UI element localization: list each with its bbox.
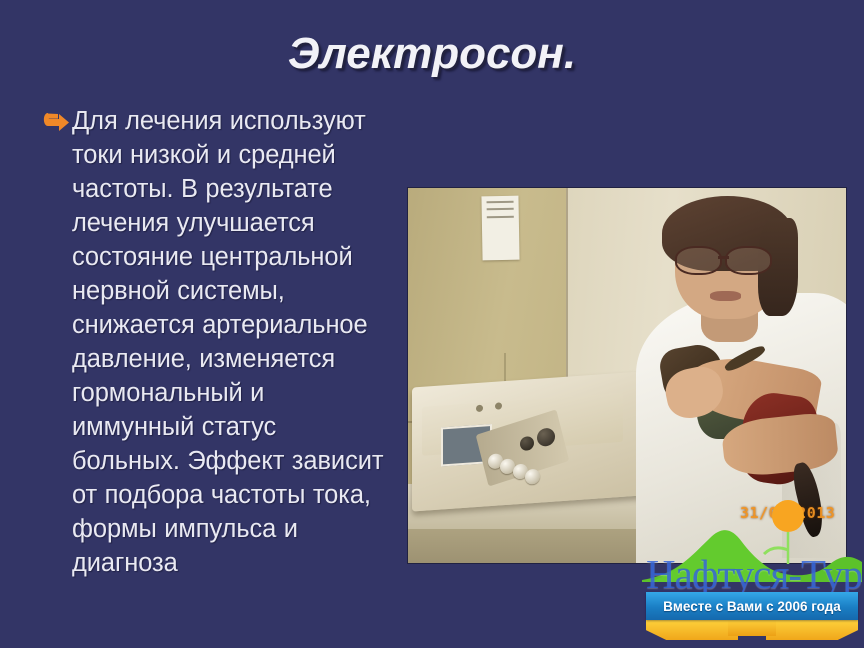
bullet-text-block: Для лечения используют токи низкой и сре… xyxy=(40,104,390,580)
eyeglasses xyxy=(675,246,771,270)
page-title: Электросон. xyxy=(0,30,864,78)
ribbon-tail-left xyxy=(646,618,738,640)
clinic-photo xyxy=(408,188,846,563)
body-paragraph: Для лечения используют токи низкой и сре… xyxy=(40,104,390,580)
arrow-bullet-icon xyxy=(42,109,70,135)
tagline-text: Вместе с Вами с 2006 года xyxy=(663,599,841,614)
mouth xyxy=(710,291,741,300)
ribbon-tail-right xyxy=(766,618,858,640)
tagline-ribbon: Вместе с Вами с 2006 года xyxy=(646,592,858,620)
lens-right xyxy=(725,246,771,274)
lens-left xyxy=(675,246,721,274)
device-knob xyxy=(525,469,540,485)
presentation-slide: Электросон. Для лечения используют токи … xyxy=(0,0,864,648)
glasses-bridge xyxy=(718,256,730,259)
ribbon-tail-center xyxy=(728,618,776,636)
electrosleep-device xyxy=(412,371,657,512)
wall-notice-paper xyxy=(482,195,520,259)
